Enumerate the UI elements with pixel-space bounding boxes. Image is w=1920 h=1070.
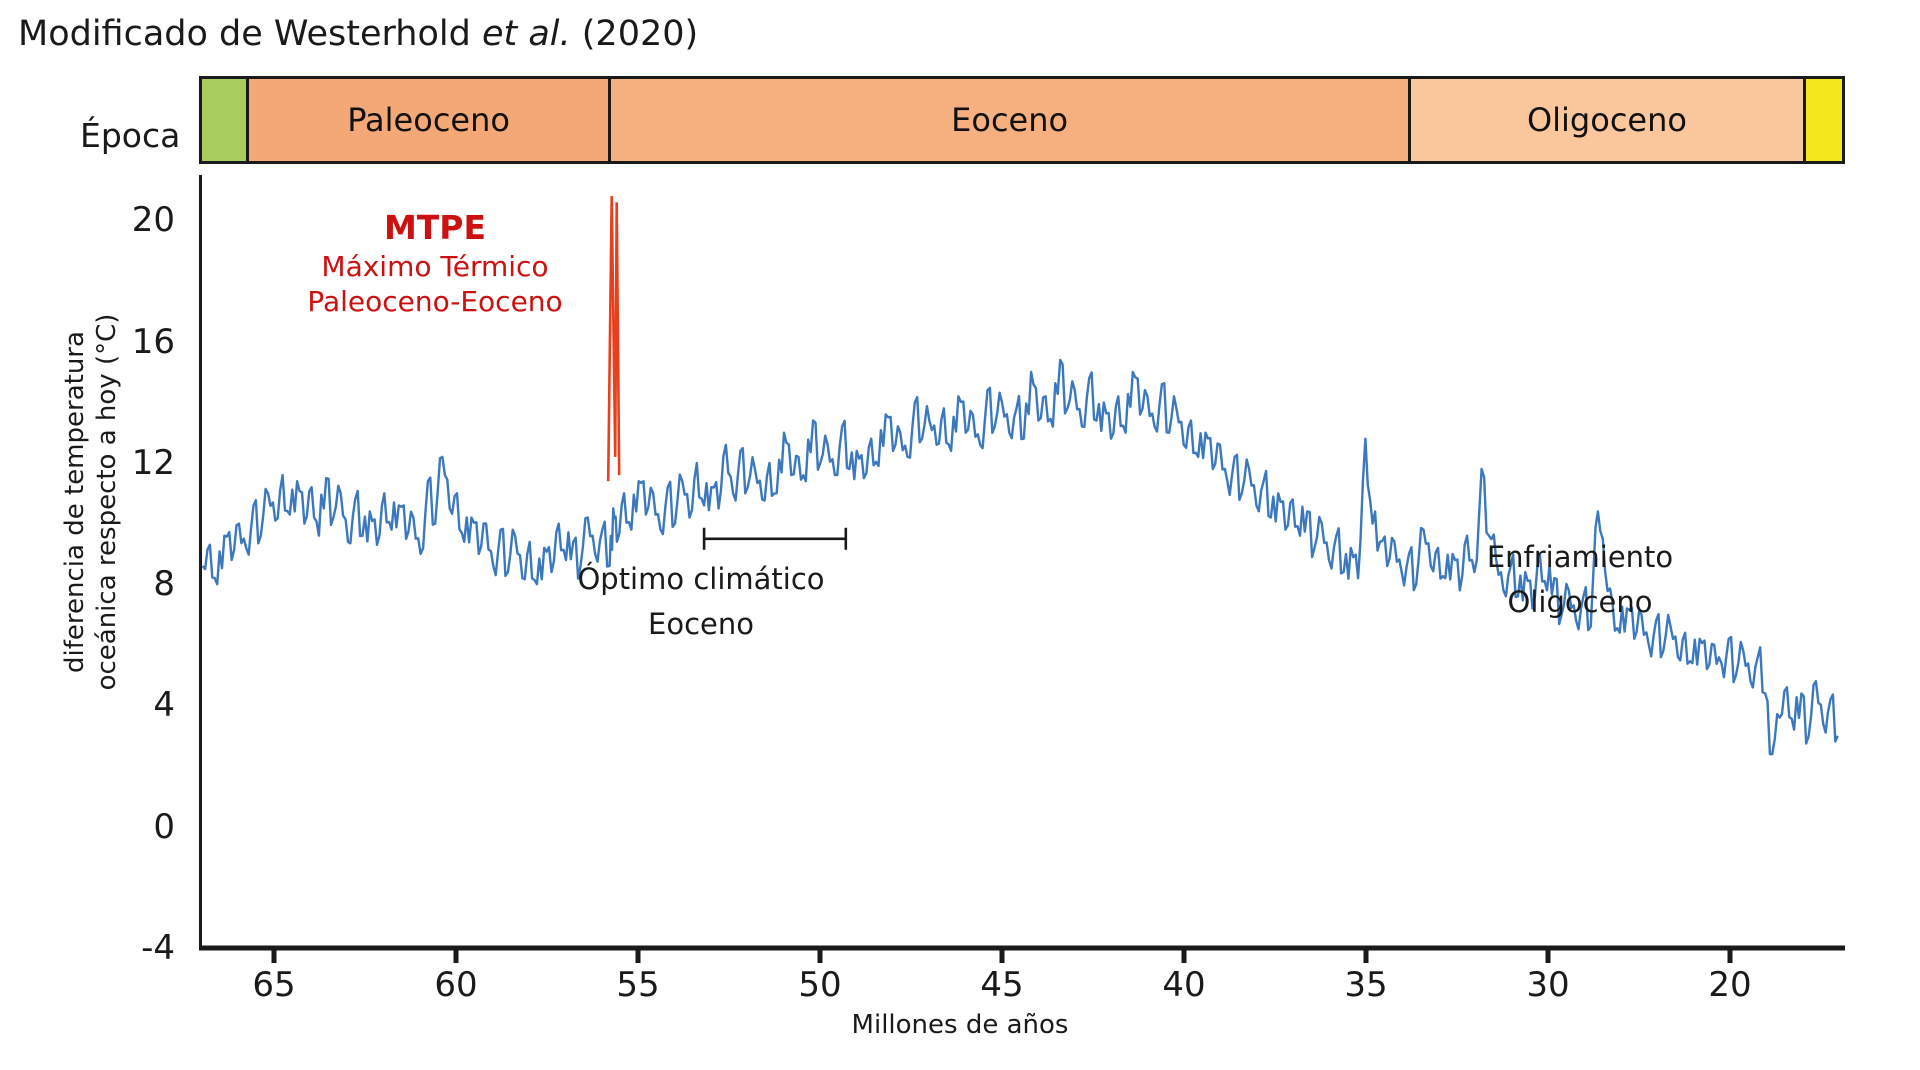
y-tick-label: 4 [153,688,175,722]
y-tick-label: -4 [141,931,175,965]
annotation-eocene-optimum-line2: Eoceno [556,602,846,647]
x-axis-label: Millones de años [0,1010,1920,1040]
mtpe-spike [608,196,619,481]
y-tick-label: 8 [153,567,175,601]
epoch-cell-label: Oligoceno [1527,101,1687,139]
epoch-cell-paleoceno: Paleoceno [249,79,611,161]
annotation-oligocene-cooling: Enfriamiento Oligoceno [1430,535,1730,625]
epoch-cell-0 [202,79,249,161]
y-tick-label: 20 [132,203,175,237]
y-axis-tick-labels: 201612840-4 [30,0,175,1070]
annotation-oligocene-cooling-line1: Enfriamiento [1430,535,1730,580]
annotation-mtpe-title: MTPE [265,207,605,249]
y-tick-label: 12 [132,446,175,480]
y-tick-label: 16 [132,325,175,359]
figure-root: Modificado de Westerhold et al. (2020) É… [0,0,1920,1070]
y-tick-label: 0 [153,810,175,844]
epoch-cell-eoceno: Eoceno [611,79,1411,161]
epoch-cell-label: Paleoceno [347,101,510,139]
epoch-cell-label: Eoceno [951,101,1068,139]
eocene-optimum-bracket [704,528,846,550]
annotation-mtpe-line2: Paleoceno-Eoceno [265,284,605,319]
figure-title-citation-italic: et al. [482,14,571,54]
figure-title-suffix: (2020) [571,14,699,54]
annotation-mtpe-line1: Máximo Térmico [265,249,605,284]
annotation-mtpe: MTPE Máximo Térmico Paleoceno-Eoceno [265,207,605,319]
epoch-cell-4 [1806,79,1842,161]
annotation-eocene-optimum-line1: Óptimo climático [556,557,846,602]
epoch-bar: PaleocenoEocenoOligoceno [199,76,1845,164]
epoch-cell-oligoceno: Oligoceno [1411,79,1806,161]
annotation-oligocene-cooling-line2: Oligoceno [1430,580,1730,625]
annotation-eocene-optimum: Óptimo climático Eoceno [556,557,846,647]
